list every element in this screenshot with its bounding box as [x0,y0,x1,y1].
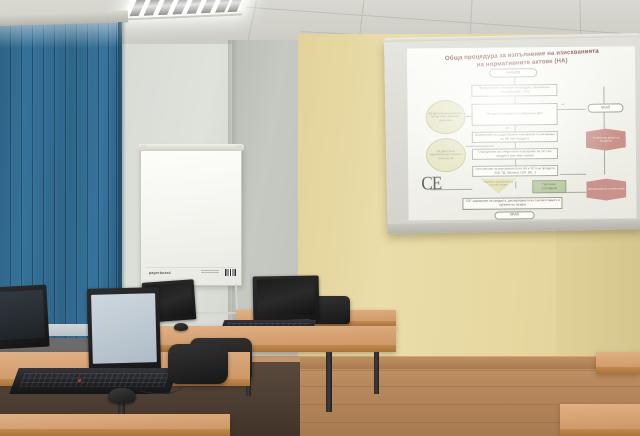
flow-node-assessment-label: Оценка и доказване на съответствието [480,180,516,187]
connector [514,96,515,103]
desk-leg [326,352,332,412]
baseboard [300,356,640,369]
connector [558,109,586,110]
laptop-front-screen [91,293,156,364]
flipchart-barcode [225,269,236,276]
flow-node-requirements: Определяне на съществените изисквания и … [472,131,558,143]
flow-node-database-1: БД Действащи нормативни актове (НА), кал… [425,100,465,134]
connector [514,77,515,84]
flow-label-no: не [561,103,564,106]
flow-node-execution: Изпълнение на изискванията на НА и ХС къ… [472,165,558,177]
flow-end-node-right: КРАЙ [587,103,623,112]
front-desk-foreground [0,414,230,436]
flow-label-yes: да [506,126,509,129]
flow-node-protocol: Протокол/ Сертификат [532,180,566,193]
classroom-photo: Обща процедура за изпълнение на изискван… [0,0,640,436]
flipchart-footer-rule [146,267,236,268]
flow-node-dossier: Техническо досие на продукта [586,128,626,150]
flipchart-pad: paperboard [140,146,242,286]
rear-desk-right [596,352,640,374]
rear-desk-right-lower [560,404,640,436]
monitor-left [0,285,50,350]
blinds-light-bleed [0,22,122,48]
ce-mark-logo: CE [421,174,441,193]
flipchart-logo: paperboard [149,271,171,275]
projected-slide: Обща процедура за изпълнение на изискван… [407,46,637,220]
flow-node-decision: Попада ли продуктът в обхвата на НА? [471,103,557,126]
monitor-left-face [0,290,45,341]
mouse-second [174,323,188,331]
connector [560,174,586,175]
flipchart-clamp [138,144,244,151]
projection-screen: Обща процедура за изпълнение на изискван… [384,37,640,234]
flow-node-spec: Функционално описание на продукта Технич… [471,84,557,97]
flow-node-ce-marking: "СЕ" маркиране на продукта, деклариранет… [462,197,562,210]
laptop-front-lid [87,287,161,373]
mouse-front[interactable] [108,388,136,404]
chair-front [168,344,228,384]
flipchart-footer-text [201,270,219,273]
connector [466,146,494,147]
laptop-rear-lid [253,275,320,320]
flow-node-harmonized: Определяне на конкретните изисквания на … [472,148,558,160]
laptop-rear-screen [257,279,316,316]
flow-end-node-bottom: КРАЙ [495,211,535,219]
flow-node-database-2: БД Действащи хармонизирани стандарти (ХС… [426,138,466,172]
flow-node-declaration: Декларация за съответствие [586,178,626,200]
flow-start-node: НАЧАЛО [489,68,537,77]
